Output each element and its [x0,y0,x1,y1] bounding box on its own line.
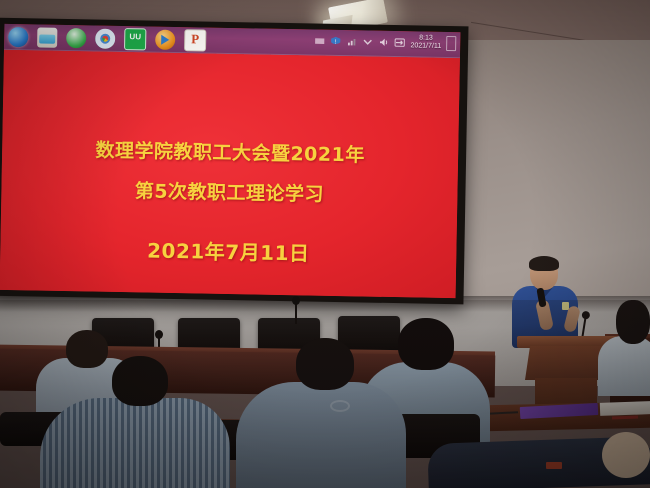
action-center-icon[interactable] [394,37,405,48]
chevron-down-icon[interactable] [362,36,373,47]
taskbar-icon-group [8,26,206,52]
table-microphone [295,302,297,324]
papers [600,401,650,416]
projection-screen: ! 8:13 2021/7/11 数理学院教职工大会暨2021年 第5次教职工理… [0,18,469,305]
photo-conference-room: ! 8:13 2021/7/11 数理学院教职工大会暨2021年 第5次教职工理… [0,0,650,488]
audience-head [112,356,168,406]
chrome-icon[interactable] [95,29,115,49]
volume-icon[interactable] [378,36,389,47]
audience-torso [598,336,650,396]
network-icon[interactable] [346,36,357,47]
jacket-tag [546,462,562,469]
file-explorer-icon[interactable] [37,27,57,47]
clock-date: 2021/7/11 [410,42,441,51]
green-circle-app-icon[interactable] [66,28,86,48]
podium-body [525,346,609,380]
shirt-logo [330,400,350,412]
audience-head [66,330,108,368]
audience-head [296,338,354,390]
audience-torso [236,382,406,488]
powerpoint-slide: 数理学院教职工大会暨2021年 第5次教职工理论学习 2021年7月11日 [0,50,460,298]
system-tray: ! 8:13 2021/7/11 [314,33,456,52]
powerpoint-icon[interactable] [184,29,206,51]
audience-head [616,300,650,344]
media-player-icon[interactable] [155,30,175,50]
audience-torso [40,398,230,488]
start-orb-icon[interactable] [8,27,28,47]
audience-head [398,318,454,370]
hidden-icons-icon[interactable] [314,35,325,46]
speaker-hair [529,256,559,271]
security-shield-icon[interactable]: ! [330,35,341,46]
slide-title-line-2: 第5次教职工理论学习 [1,174,457,209]
uu-booster-icon[interactable] [124,28,146,50]
svg-text:!: ! [335,38,337,45]
audience-head [602,432,650,478]
slide-date-line: 2021年7月11日 [0,232,456,269]
slide-title-line-1: 数理学院教职工大会暨2021年 [2,134,458,169]
taskbar-clock[interactable]: 8:13 2021/7/11 [410,34,441,51]
screen-surface: ! 8:13 2021/7/11 数理学院教职工大会暨2021年 第5次教职工理… [0,24,460,298]
show-desktop-button[interactable] [446,35,456,50]
